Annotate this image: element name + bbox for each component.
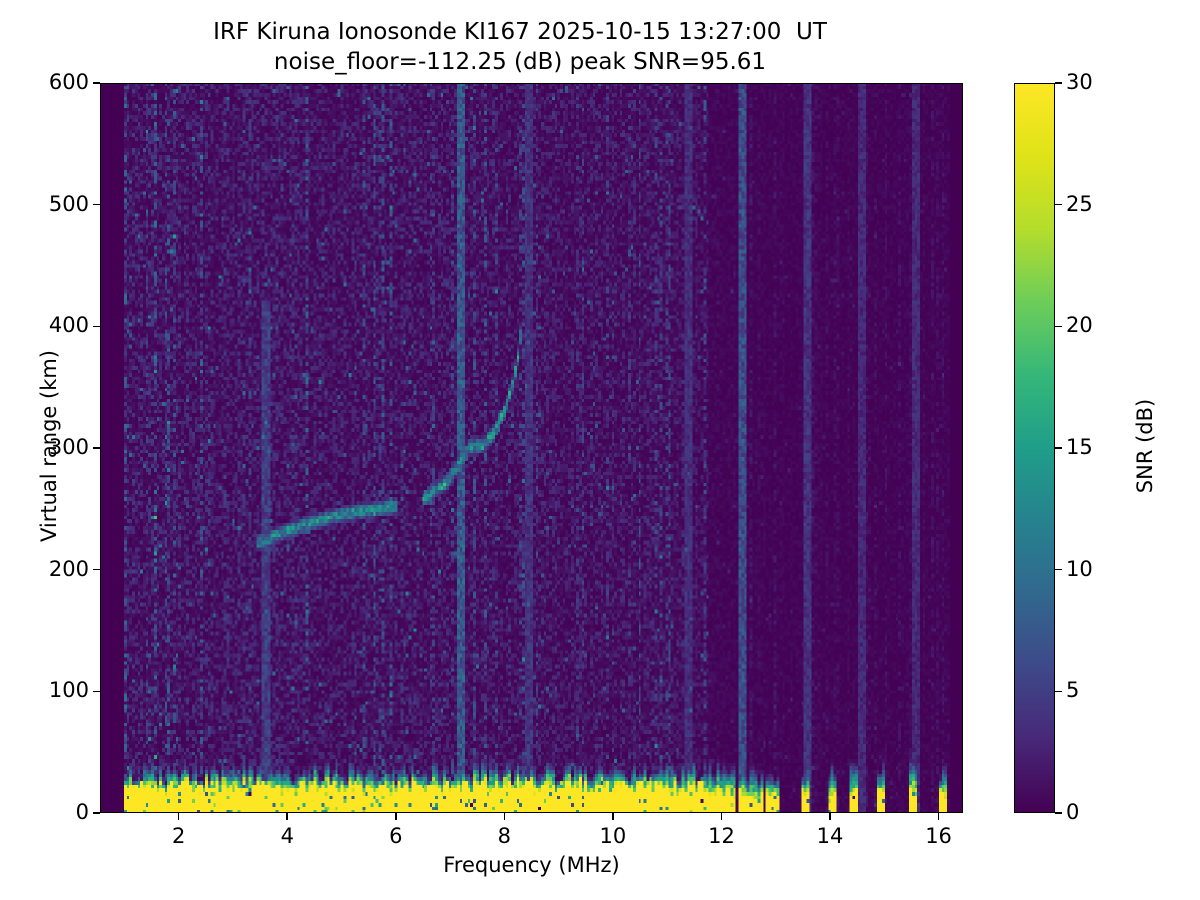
y-tick-mark xyxy=(93,569,100,571)
ionogram-heatmap[interactable] xyxy=(101,84,962,812)
colorbar-tick-label: 10 xyxy=(1066,557,1093,581)
x-tick-label: 10 xyxy=(583,824,643,848)
colorbar-tick-label: 30 xyxy=(1066,70,1093,94)
y-tick-mark xyxy=(93,82,100,84)
ionogram-plot-area[interactable] xyxy=(100,83,963,813)
colorbar-tick-mark xyxy=(1055,326,1062,328)
colorbar[interactable] xyxy=(1014,83,1055,813)
title-line-2: noise_floor=-112.25 (dB) peak SNR=95.61 xyxy=(0,48,1040,78)
x-tick-label: 12 xyxy=(691,824,751,848)
x-tick-mark xyxy=(504,813,506,820)
colorbar-tick-label: 15 xyxy=(1066,435,1093,459)
x-tick-label: 8 xyxy=(474,824,534,848)
x-tick-label: 6 xyxy=(366,824,426,848)
x-tick-mark xyxy=(395,813,397,820)
y-tick-mark xyxy=(93,691,100,693)
x-tick-mark xyxy=(286,813,288,820)
y-axis-label: Virtual range (km) xyxy=(37,81,61,811)
x-tick-mark xyxy=(721,813,723,820)
x-tick-mark xyxy=(178,813,180,820)
x-tick-label: 14 xyxy=(800,824,860,848)
figure-title: IRF Kiruna Ionosonde KI167 2025-10-15 13… xyxy=(0,18,1040,78)
x-tick-mark xyxy=(612,813,614,820)
x-tick-mark xyxy=(829,813,831,820)
y-tick-mark xyxy=(93,204,100,206)
x-tick-label: 2 xyxy=(149,824,209,848)
colorbar-gradient xyxy=(1015,84,1054,812)
colorbar-tick-mark xyxy=(1055,204,1062,206)
colorbar-tick-mark xyxy=(1055,812,1062,814)
colorbar-tick-mark xyxy=(1055,569,1062,571)
colorbar-label: SNR (dB) xyxy=(1133,81,1157,811)
x-tick-label: 4 xyxy=(257,824,317,848)
y-tick-mark xyxy=(93,326,100,328)
y-tick-mark xyxy=(93,812,100,814)
colorbar-tick-label: 5 xyxy=(1066,678,1079,702)
ionogram-figure: IRF Kiruna Ionosonde KI167 2025-10-15 13… xyxy=(0,0,1200,900)
colorbar-tick-label: 20 xyxy=(1066,313,1093,337)
colorbar-tick-label: 0 xyxy=(1066,800,1079,824)
colorbar-tick-label: 25 xyxy=(1066,192,1093,216)
x-tick-mark xyxy=(938,813,940,820)
y-tick-mark xyxy=(93,447,100,449)
y-tick-label: 0 xyxy=(76,800,89,824)
title-line-1: IRF Kiruna Ionosonde KI167 2025-10-15 13… xyxy=(0,18,1040,48)
colorbar-tick-mark xyxy=(1055,691,1062,693)
colorbar-tick-mark xyxy=(1055,82,1062,84)
x-axis-label: Frequency (MHz) xyxy=(100,853,963,877)
x-tick-label: 16 xyxy=(909,824,969,848)
colorbar-tick-mark xyxy=(1055,447,1062,449)
